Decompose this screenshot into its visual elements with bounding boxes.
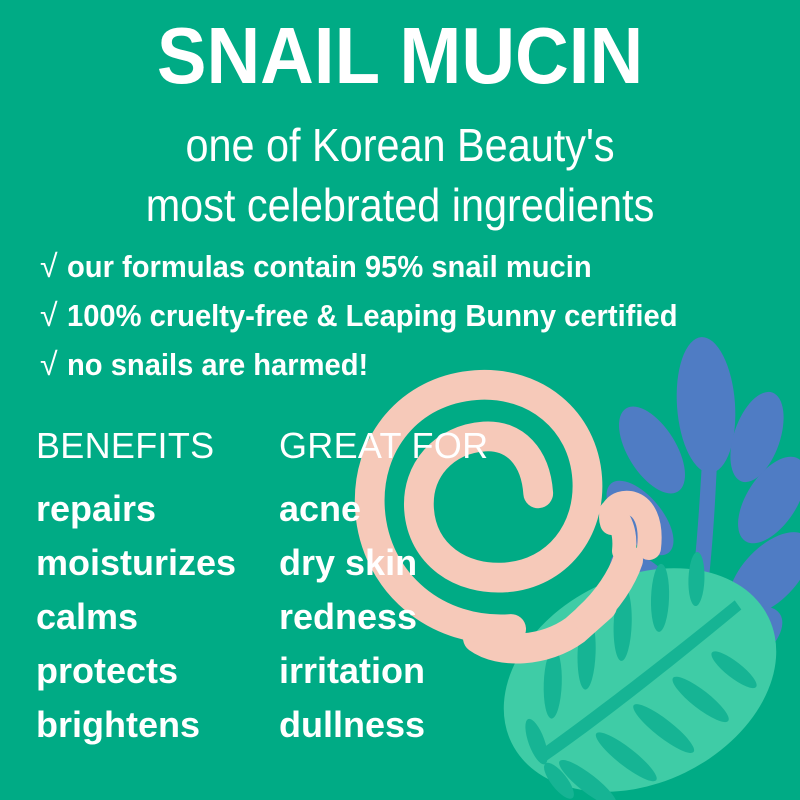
great-for-item: dry skin (279, 536, 539, 590)
great-for-item: acne (279, 482, 539, 536)
benefits-item: calms (36, 590, 279, 644)
check-icon: √ (40, 348, 58, 380)
claim-text: no snails are harmed! (67, 349, 368, 380)
list-item: √ 100% cruelty-free & Leaping Bunny cert… (40, 299, 780, 348)
subtitle-line-1: one of Korean Beauty's (40, 120, 760, 170)
attribute-columns: BENEFITS repairs moisturizes calms prote… (36, 424, 539, 752)
great-for-item: dullness (279, 698, 539, 752)
benefits-column: BENEFITS repairs moisturizes calms prote… (36, 424, 279, 752)
benefits-item: protects (36, 644, 279, 698)
benefits-heading: BENEFITS (36, 424, 279, 468)
subtitle-line-2: most celebrated ingredients (40, 180, 760, 230)
list-item: √ our formulas contain 95% snail mucin (40, 250, 780, 299)
claim-text: 100% cruelty-free & Leaping Bunny certif… (67, 300, 678, 331)
benefits-item: moisturizes (36, 536, 279, 590)
great-for-heading: GREAT FOR (279, 424, 539, 468)
benefits-item: repairs (36, 482, 279, 536)
check-icon: √ (40, 250, 58, 282)
claims-list: √ our formulas contain 95% snail mucin √… (40, 250, 780, 397)
great-for-column: GREAT FOR acne dry skin redness irritati… (279, 424, 539, 752)
great-for-item: redness (279, 590, 539, 644)
content-layer: SNAIL MUCIN one of Korean Beauty's most … (0, 0, 800, 800)
page-title: SNAIL MUCIN (28, 14, 772, 98)
claim-text: our formulas contain 95% snail mucin (67, 251, 592, 282)
benefits-item: brightens (36, 698, 279, 752)
list-item: √ no snails are harmed! (40, 348, 780, 397)
infographic-poster: SNAIL MUCIN one of Korean Beauty's most … (0, 0, 800, 800)
great-for-item: irritation (279, 644, 539, 698)
check-icon: √ (40, 299, 58, 331)
